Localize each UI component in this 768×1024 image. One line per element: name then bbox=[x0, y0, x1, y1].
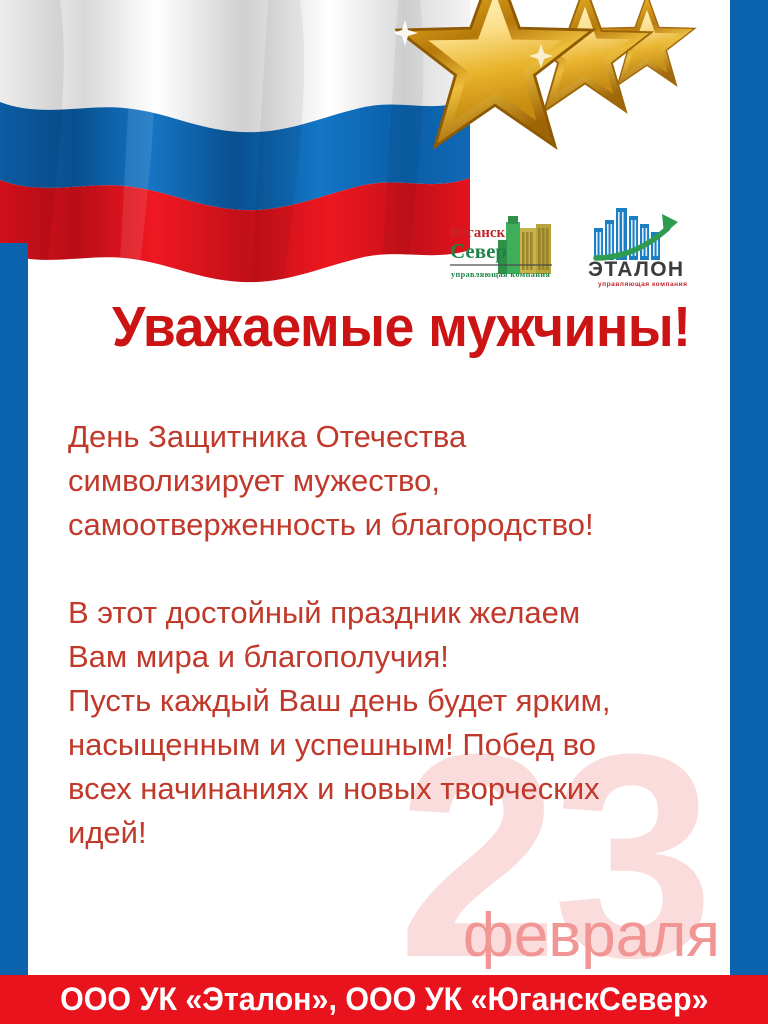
greeting-card: 23 февраля bbox=[0, 0, 768, 1024]
logo-etalon: ЭТАЛОН управляющая компания bbox=[584, 198, 706, 290]
paragraph-1-line-2: символизирует мужество, bbox=[68, 459, 713, 503]
paragraph-2-line-6: идей! bbox=[68, 811, 713, 855]
paragraph-1: День Защитника Отечества символизирует м… bbox=[68, 415, 713, 547]
footer-companies: ООО УК «Эталон», ООО УК «ЮганскСевер» bbox=[60, 981, 708, 1018]
logo-etalon-name: ЭТАЛОН bbox=[588, 258, 685, 281]
watermark-month: февраля bbox=[463, 905, 720, 967]
page-title: Уважаемые мужчины! bbox=[112, 298, 691, 358]
logo-etalon-tagline: управляющая компания bbox=[598, 281, 688, 288]
right-blue-border bbox=[730, 0, 768, 975]
company-logos: Юганск Север управляющая компания bbox=[448, 198, 716, 290]
greeting-body: День Защитника Отечества символизирует м… bbox=[68, 415, 713, 855]
paragraph-2-line-4: насыщенным и успешным! Побед во bbox=[68, 723, 713, 767]
paragraph-1-line-1: День Защитника Отечества bbox=[68, 415, 713, 459]
left-blue-border bbox=[0, 243, 28, 975]
footer-banner: ООО УК «Эталон», ООО УК «ЮганскСевер» bbox=[0, 975, 768, 1024]
logo-uganskserver: Юганск Север управляющая компания bbox=[448, 210, 566, 290]
paragraph-2-line-1: В этот достойный праздник желаем bbox=[68, 591, 713, 635]
paragraph-2: В этот достойный праздник желаем Вам мир… bbox=[68, 591, 713, 855]
logo-ugansk-tagline: управляющая компания bbox=[451, 270, 551, 279]
paragraph-2-line-5: всех начинаниях и новых творческих bbox=[68, 767, 713, 811]
paragraph-1-line-3: самоотверженность и благородство! bbox=[68, 503, 713, 547]
logo-ugansk-part2: Север bbox=[450, 239, 507, 263]
paragraph-2-line-2: Вам мира и благополучия! bbox=[68, 635, 713, 679]
gold-stars-decoration bbox=[395, 0, 725, 202]
paragraph-spacer bbox=[68, 547, 713, 591]
paragraph-2-line-3: Пусть каждый Ваш день будет ярким, bbox=[68, 679, 713, 723]
